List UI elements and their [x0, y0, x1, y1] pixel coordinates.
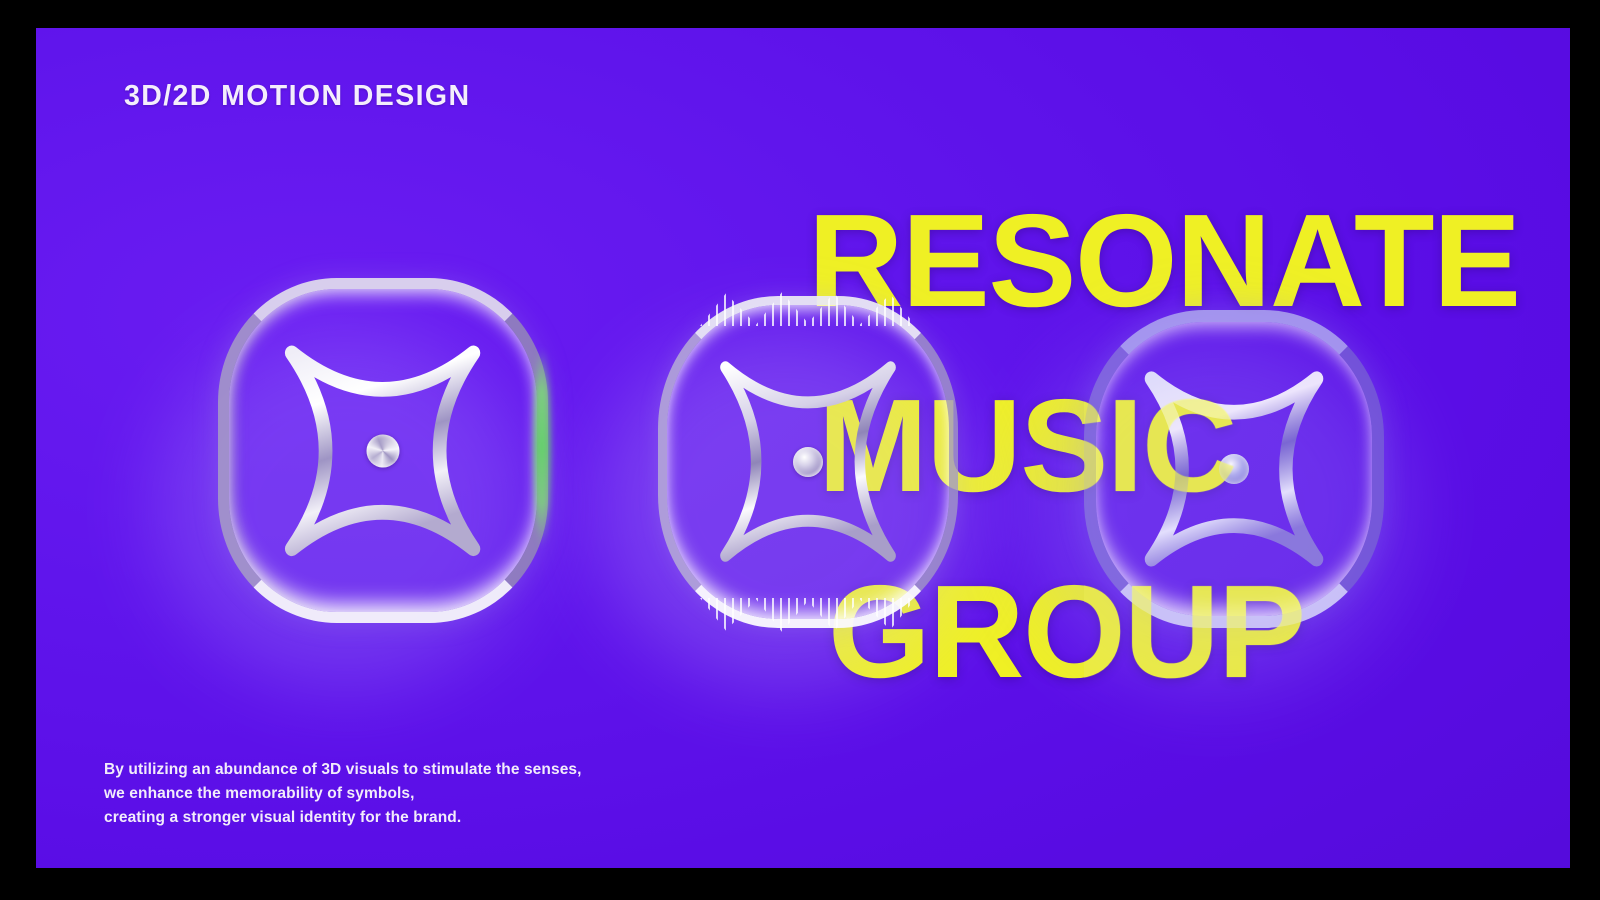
caption-line-3: creating a stronger visual identity for … [104, 806, 582, 830]
chromatic-dispersion-highlight [534, 347, 550, 547]
slide-kicker: 3D/2D MOTION DESIGN [124, 80, 470, 113]
center-bead-icon [1219, 454, 1249, 484]
slide-caption: By utilizing an abundance of 3D visuals … [104, 758, 582, 830]
logo-mark-glass [1084, 310, 1384, 628]
logo-mark-chrome [218, 278, 548, 623]
center-bead-icon [793, 447, 823, 477]
slide-stage: 3D/2D MOTION DESIGN RESONATE MUSIC GROUP [36, 28, 1570, 868]
logo-mark-crystal [658, 296, 958, 628]
presentation-slide: 3D/2D MOTION DESIGN RESONATE MUSIC GROUP [0, 0, 1600, 900]
caption-line-2: we enhance the memorability of symbols, [104, 782, 582, 806]
caption-line-1: By utilizing an abundance of 3D visuals … [104, 758, 582, 782]
center-bead-icon [367, 434, 400, 467]
